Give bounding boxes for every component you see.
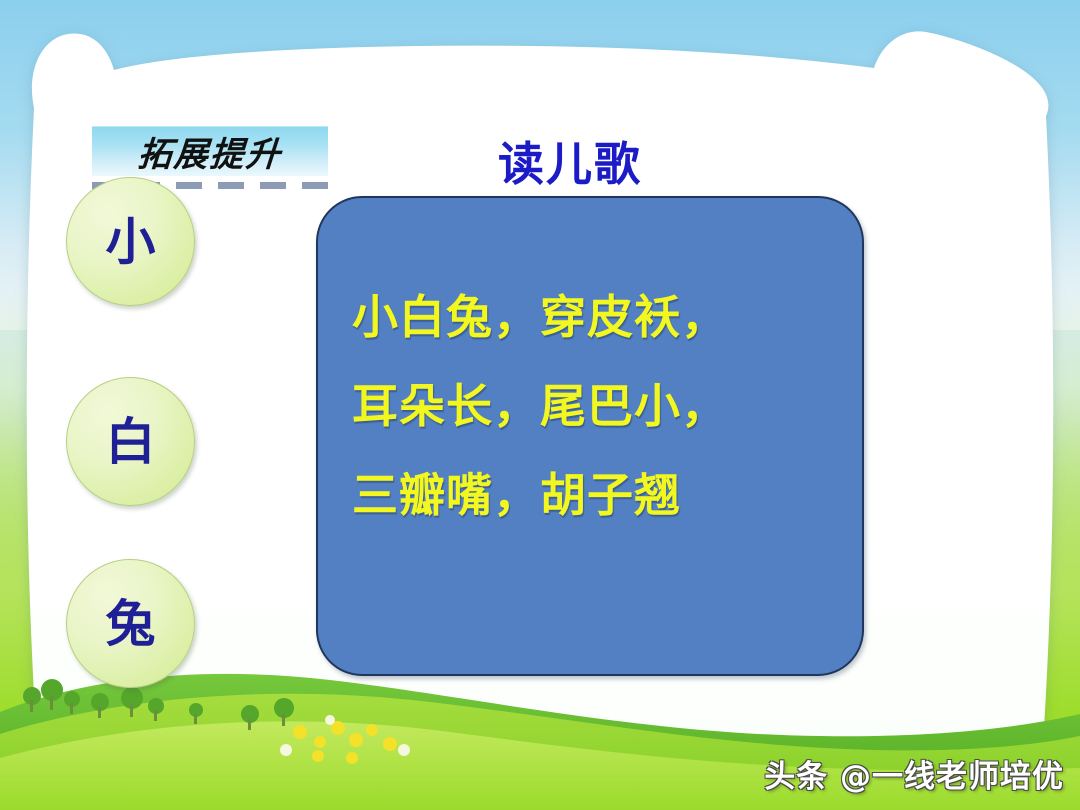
- char-circle-tu[interactable]: 兔: [66, 559, 195, 688]
- section-banner: 拓展提升: [92, 126, 328, 176]
- rhyme-line: 耳朵长，尾巴小，: [352, 383, 828, 429]
- watermark-text: 头条 @一线老师培优: [764, 751, 1064, 796]
- char-circle-xiao[interactable]: 小: [66, 177, 195, 306]
- slide-canvas: 拓展提升 小 白 兔 读儿歌 小白兔，穿皮袄， 耳朵长，尾巴小， 三瓣嘴，胡子翘…: [0, 0, 1080, 810]
- rhyme-panel: 小白兔，穿皮袄， 耳朵长，尾巴小， 三瓣嘴，胡子翘: [316, 196, 864, 676]
- rhyme-line: 小白兔，穿皮袄，: [352, 294, 828, 340]
- rhyme-line: 三瓣嘴，胡子翘: [352, 472, 828, 518]
- rhyme-lines: 小白兔，穿皮袄， 耳朵长，尾巴小， 三瓣嘴，胡子翘: [318, 294, 862, 518]
- char-circle-label: 白: [106, 417, 156, 467]
- char-circle-bai[interactable]: 白: [66, 377, 195, 506]
- char-circle-label: 小: [106, 217, 156, 267]
- page-title: 读儿歌: [420, 140, 720, 188]
- char-circle-label: 兔: [106, 599, 156, 649]
- section-banner-label: 拓展提升: [90, 127, 329, 176]
